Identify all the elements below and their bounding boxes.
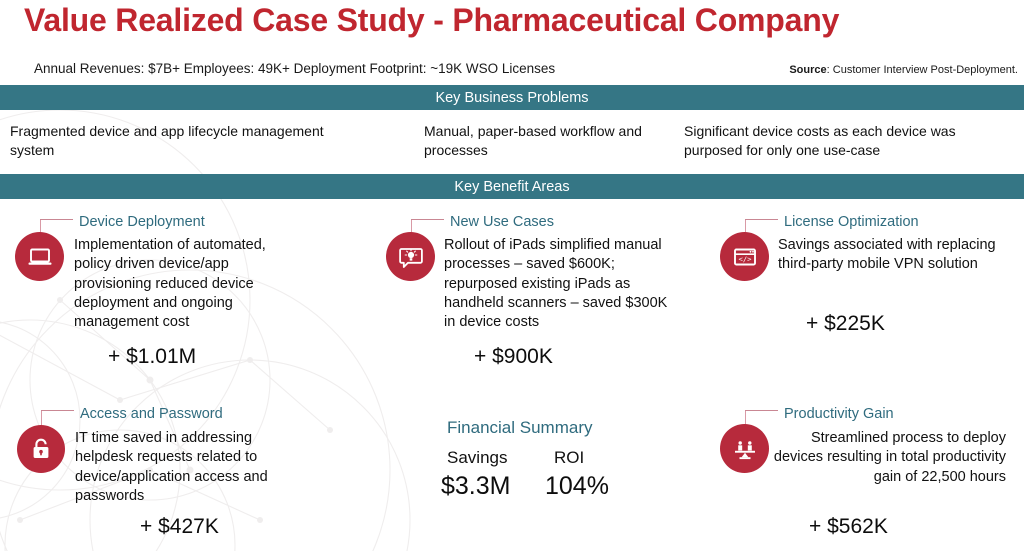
benefit-heading: Device Deployment [79, 214, 205, 230]
benefit-body: Streamlined process to deploy devices re… [760, 429, 1006, 487]
roi-label: ROI [554, 448, 584, 468]
problem-item-2: Significant device costs as each device … [684, 122, 1014, 160]
benefit-amount: + $562K [809, 515, 888, 539]
benefit-heading: License Optimization [784, 214, 919, 230]
section-header-key-business-problems: Key Business Problems [0, 85, 1024, 110]
unlocked-padlock-icon [17, 425, 65, 473]
slide-root: Value Realized Case Study - Pharmaceutic… [0, 0, 1024, 551]
section-header-label: Key Business Problems [435, 90, 588, 106]
benefit-amount: + $900K [474, 345, 553, 369]
svg-text:</>: </> [738, 254, 752, 263]
benefit-amount: + $1.01M [108, 345, 196, 369]
section-header-key-benefit-areas: Key Benefit Areas [0, 174, 1024, 199]
lightbulb-bubble-icon [386, 232, 435, 281]
benefit-body: Implementation of automated, policy driv… [74, 236, 289, 332]
roi-value: 104% [545, 472, 609, 501]
section-header-label: Key Benefit Areas [454, 179, 569, 195]
benefit-heading: New Use Cases [450, 214, 554, 230]
problem-item-1: Manual, paper-based workflow and process… [424, 122, 674, 160]
financial-summary-title: Financial Summary [447, 418, 593, 438]
company-facts-line: Annual Revenues: $7B+ Employees: 49K+ De… [34, 61, 555, 76]
benefit-body: Savings associated with replacing third-… [778, 236, 1006, 275]
source-label: Source [789, 64, 826, 76]
benefit-amount: + $427K [140, 515, 219, 539]
page-title: Value Realized Case Study - Pharmaceutic… [24, 2, 839, 39]
benefit-body: IT time saved in addressing helpdesk req… [75, 429, 298, 506]
savings-value: $3.3M [441, 472, 510, 501]
benefit-amount: + $225K [806, 312, 885, 336]
savings-label: Savings [447, 448, 507, 468]
source-note: Source: Customer Interview Post-Deployme… [789, 64, 1018, 76]
laptop-icon [15, 232, 64, 281]
source-text: : Customer Interview Post-Deployment. [827, 64, 1018, 76]
benefit-heading: Access and Password [80, 406, 223, 422]
benefit-heading: Productivity Gain [784, 406, 894, 422]
problem-item-0: Fragmented device and app lifecycle mana… [10, 122, 340, 160]
code-window-icon: </> [720, 232, 769, 281]
benefit-body: Rollout of iPads simplified manual proce… [444, 236, 670, 332]
